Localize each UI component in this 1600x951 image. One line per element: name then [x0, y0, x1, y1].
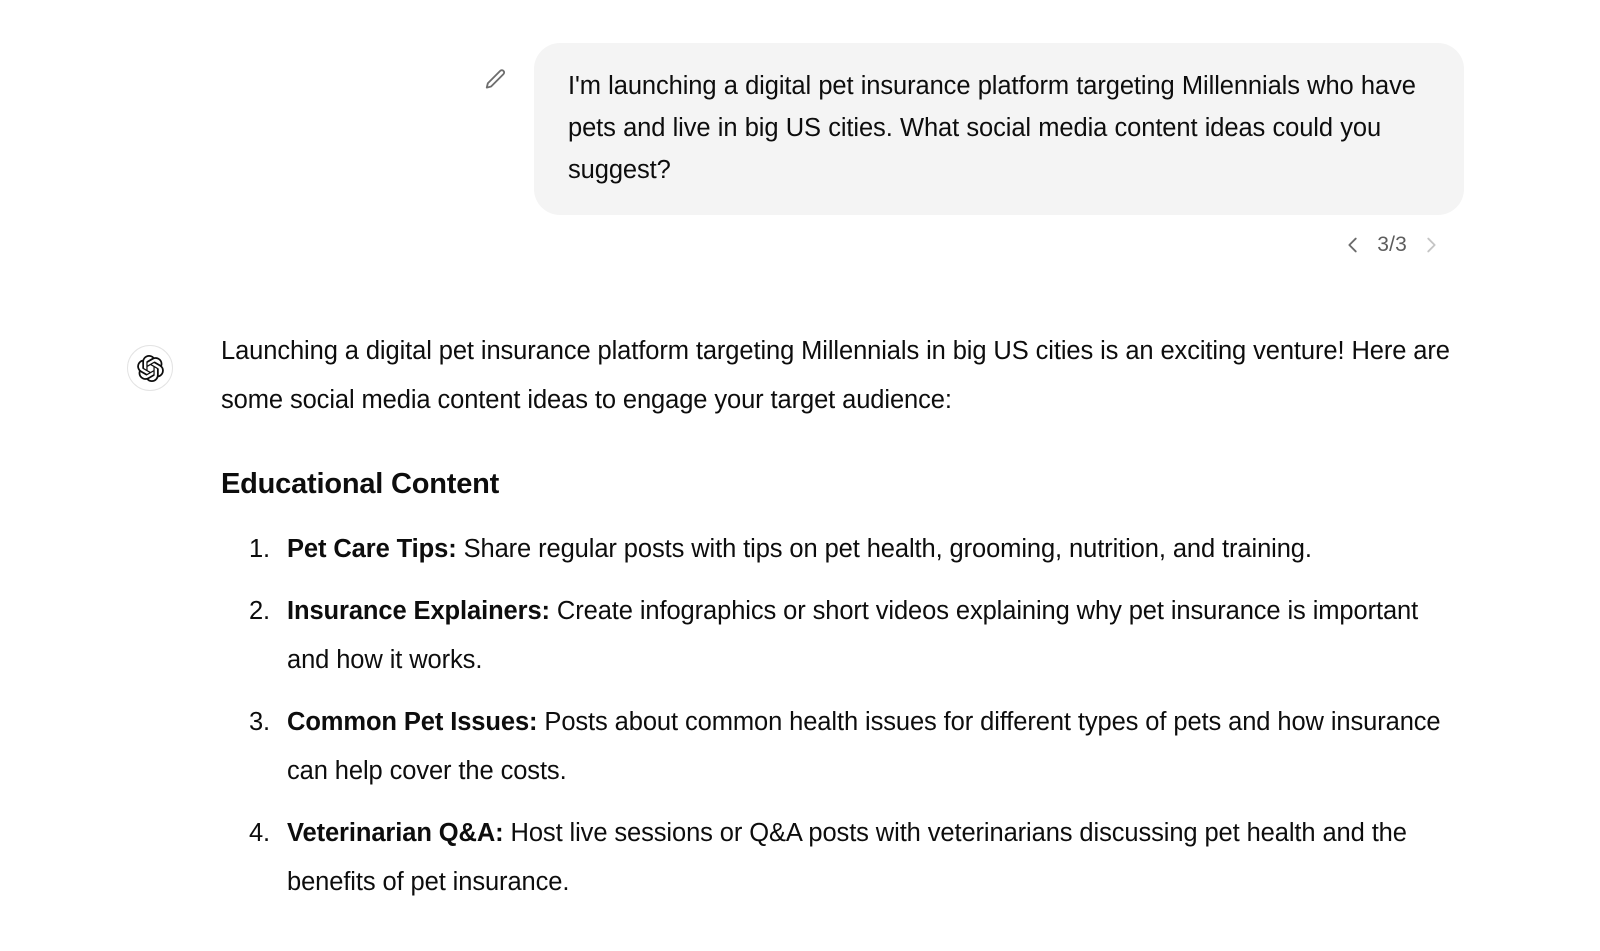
version-count-label: 3/3 — [1374, 233, 1410, 257]
list-item-term: Veterinarian Q&A: — [287, 819, 504, 847]
list-item: Veterinarian Q&A: Host live sessions or … — [277, 809, 1461, 907]
list-item: Common Pet Issues: Posts about common he… — [277, 698, 1461, 796]
assistant-intro-paragraph: Launching a digital pet insurance platfo… — [221, 327, 1461, 425]
user-message-turn: I'm launching a digital pet insurance pl… — [0, 43, 1464, 215]
previous-version-button[interactable] — [1336, 228, 1370, 262]
pencil-edit-icon — [482, 67, 508, 93]
user-message-bubble: I'm launching a digital pet insurance pl… — [534, 43, 1464, 215]
edit-message-button[interactable] — [478, 63, 512, 97]
message-version-pagination: 3/3 — [0, 228, 1448, 262]
list-item: Pet Care Tips: Share regular posts with … — [277, 525, 1461, 574]
user-message-text: I'm launching a digital pet insurance pl… — [568, 65, 1430, 191]
next-version-button[interactable] — [1414, 228, 1448, 262]
assistant-message-turn: Launching a digital pet insurance platfo… — [127, 345, 1527, 920]
list-item-term: Pet Care Tips: — [287, 535, 457, 563]
chevron-right-icon — [1420, 234, 1442, 256]
conversation-thread: I'm launching a digital pet insurance pl… — [0, 0, 1600, 951]
list-item-term: Common Pet Issues: — [287, 708, 537, 736]
list-item: Insurance Explainers: Create infographic… — [277, 587, 1461, 685]
assistant-message-body: Launching a digital pet insurance platfo… — [221, 327, 1461, 920]
list-item-text: Share regular posts with tips on pet hea… — [457, 535, 1312, 563]
section-heading-educational-content: Educational Content — [221, 465, 1461, 503]
assistant-avatar — [127, 345, 173, 391]
chevron-left-icon — [1342, 234, 1364, 256]
educational-content-list: Pet Care Tips: Share regular posts with … — [221, 525, 1461, 907]
openai-logo-icon — [137, 355, 164, 382]
list-item-term: Insurance Explainers: — [287, 597, 550, 625]
